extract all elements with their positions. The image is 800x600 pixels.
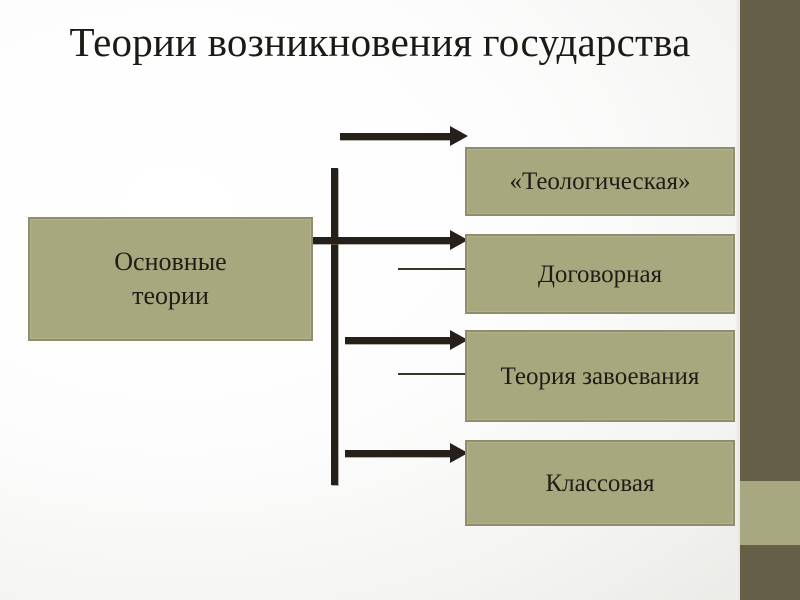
node-contractual-label: Договорная [538, 258, 662, 291]
connector-hairline-1 [398, 268, 466, 270]
decorative-side-band-accent [740, 481, 800, 545]
node-conquest-label: Теория завоевания [501, 360, 700, 393]
node-class-label: Классовая [545, 467, 654, 500]
slide-canvas: Теории возникновения государства Основны… [0, 0, 800, 600]
node-theological-label: «Теологическая» [510, 165, 691, 198]
connector-arrow-2 [313, 237, 452, 244]
connector-arrow-3 [345, 337, 452, 344]
node-conquest: Теория завоевания [465, 330, 735, 422]
connector-trunk-line [331, 168, 338, 485]
node-class: Классовая [465, 440, 735, 526]
connector-arrow-4 [345, 450, 452, 457]
connector-hairline-2 [398, 373, 466, 375]
slide-title: Теории возникновения государства [60, 14, 700, 71]
node-theological: «Теологическая» [465, 147, 735, 216]
connector-arrow-1 [340, 133, 452, 140]
node-main-theories: Основные теории [28, 217, 313, 341]
node-contractual: Договорная [465, 234, 735, 314]
node-main-theories-label: Основные теории [114, 245, 226, 314]
